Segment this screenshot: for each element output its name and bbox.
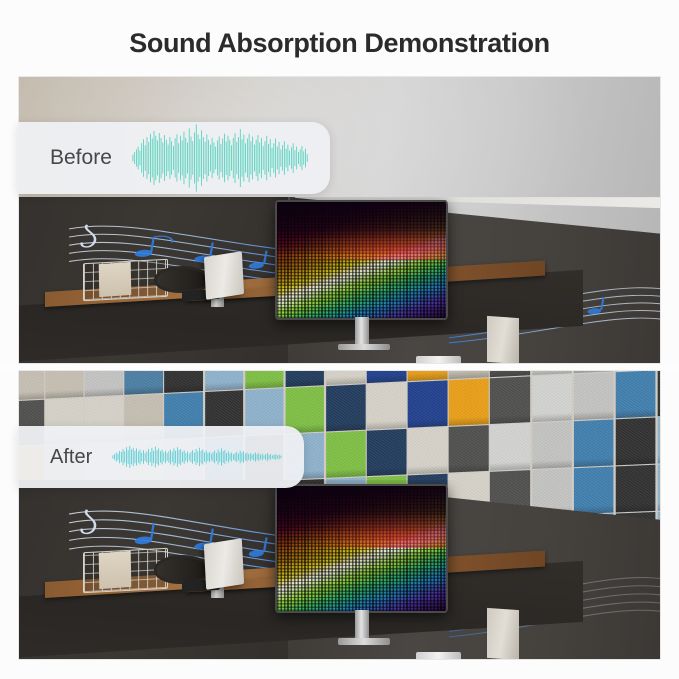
laptop-stand bbox=[204, 251, 245, 300]
monitor-stand-neck bbox=[355, 317, 369, 343]
monitor-screen bbox=[275, 200, 448, 319]
laptop-stand bbox=[204, 538, 245, 590]
file-rack-document bbox=[99, 262, 132, 297]
acoustic-panel-tile bbox=[574, 420, 614, 467]
before-card[interactable]: Before bbox=[18, 122, 330, 194]
acoustic-panel-tile bbox=[491, 377, 531, 424]
quiet-waveform bbox=[112, 426, 282, 488]
demo-page: Sound Absorption Demonstration bbox=[0, 0, 679, 679]
acoustic-panel-tile bbox=[532, 375, 572, 422]
acoustic-panel-tile bbox=[408, 371, 448, 381]
curved-monitor bbox=[275, 200, 448, 319]
acoustic-panel-tile bbox=[532, 422, 572, 469]
after-scene bbox=[18, 370, 661, 660]
acoustic-panel-tile bbox=[165, 371, 203, 393]
after-desk-scene bbox=[19, 480, 660, 659]
acoustic-panel-tile bbox=[367, 371, 406, 383]
acoustic-panel-tile bbox=[658, 371, 660, 416]
desktop-speaker bbox=[416, 652, 461, 659]
acoustic-panel-tile bbox=[491, 423, 531, 470]
monitor-screen bbox=[275, 484, 448, 613]
desktop-speaker bbox=[416, 356, 461, 363]
acoustic-panel-tile bbox=[367, 429, 406, 476]
acoustic-panel-tile bbox=[326, 371, 365, 385]
acoustic-panel-tile bbox=[367, 383, 406, 430]
acoustic-panel-tile bbox=[574, 373, 614, 420]
monitor-stand-base bbox=[338, 344, 390, 350]
before-desk-scene bbox=[19, 197, 660, 363]
curved-monitor bbox=[275, 484, 448, 613]
page-title: Sound Absorption Demonstration bbox=[0, 28, 679, 59]
acoustic-panel-tile bbox=[85, 371, 123, 396]
acoustic-panel-tile bbox=[286, 371, 325, 387]
loud-waveform bbox=[132, 122, 308, 194]
acoustic-panel-tile bbox=[245, 371, 284, 389]
acoustic-panel-tile bbox=[658, 416, 660, 463]
acoustic-panel-tile bbox=[125, 371, 163, 395]
before-scene bbox=[18, 76, 661, 364]
acoustic-panel-tile bbox=[408, 427, 448, 474]
acoustic-panel-tile bbox=[449, 425, 489, 472]
acoustic-panel-tile bbox=[46, 371, 84, 398]
after-card[interactable]: After bbox=[18, 426, 304, 488]
standing-panel bbox=[487, 608, 519, 659]
acoustic-panel-tile bbox=[205, 371, 244, 391]
before-label: Before bbox=[50, 146, 112, 170]
acoustic-panel-tile bbox=[326, 431, 365, 478]
monitor-stand-neck bbox=[355, 610, 369, 638]
acoustic-panel-tile bbox=[616, 418, 656, 465]
standing-panel bbox=[487, 315, 519, 363]
acoustic-panel-tile bbox=[326, 385, 365, 432]
file-rack-document bbox=[99, 551, 132, 589]
after-label: After bbox=[50, 446, 92, 469]
acoustic-panel-tile bbox=[616, 371, 656, 418]
acoustic-panel-tile bbox=[408, 381, 448, 428]
monitor-stand-base bbox=[338, 638, 390, 644]
acoustic-panel-tile bbox=[19, 371, 44, 400]
acoustic-panel-tile bbox=[449, 379, 489, 426]
